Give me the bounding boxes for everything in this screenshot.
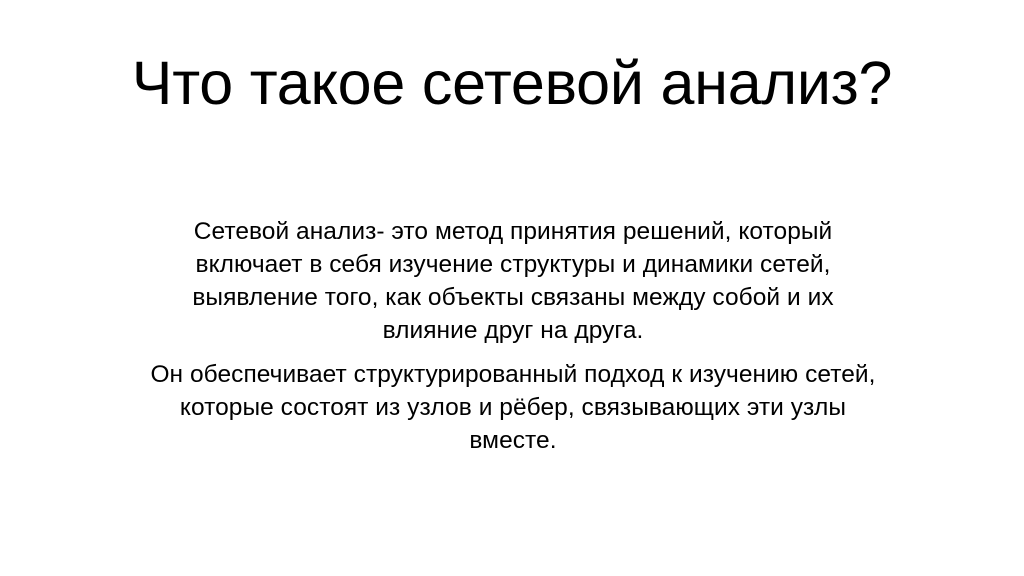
slide-body-content: Сетевой анализ- это метод принятия решен… xyxy=(143,215,883,457)
presentation-slide: Что такое сетевой анализ? Сетевой анализ… xyxy=(0,0,1024,576)
body-paragraph-1: Сетевой анализ- это метод принятия решен… xyxy=(143,215,883,347)
page-title: Что такое сетевой анализ? xyxy=(62,49,962,117)
body-paragraph-2: Он обеспечивает структурированный подход… xyxy=(143,358,883,457)
